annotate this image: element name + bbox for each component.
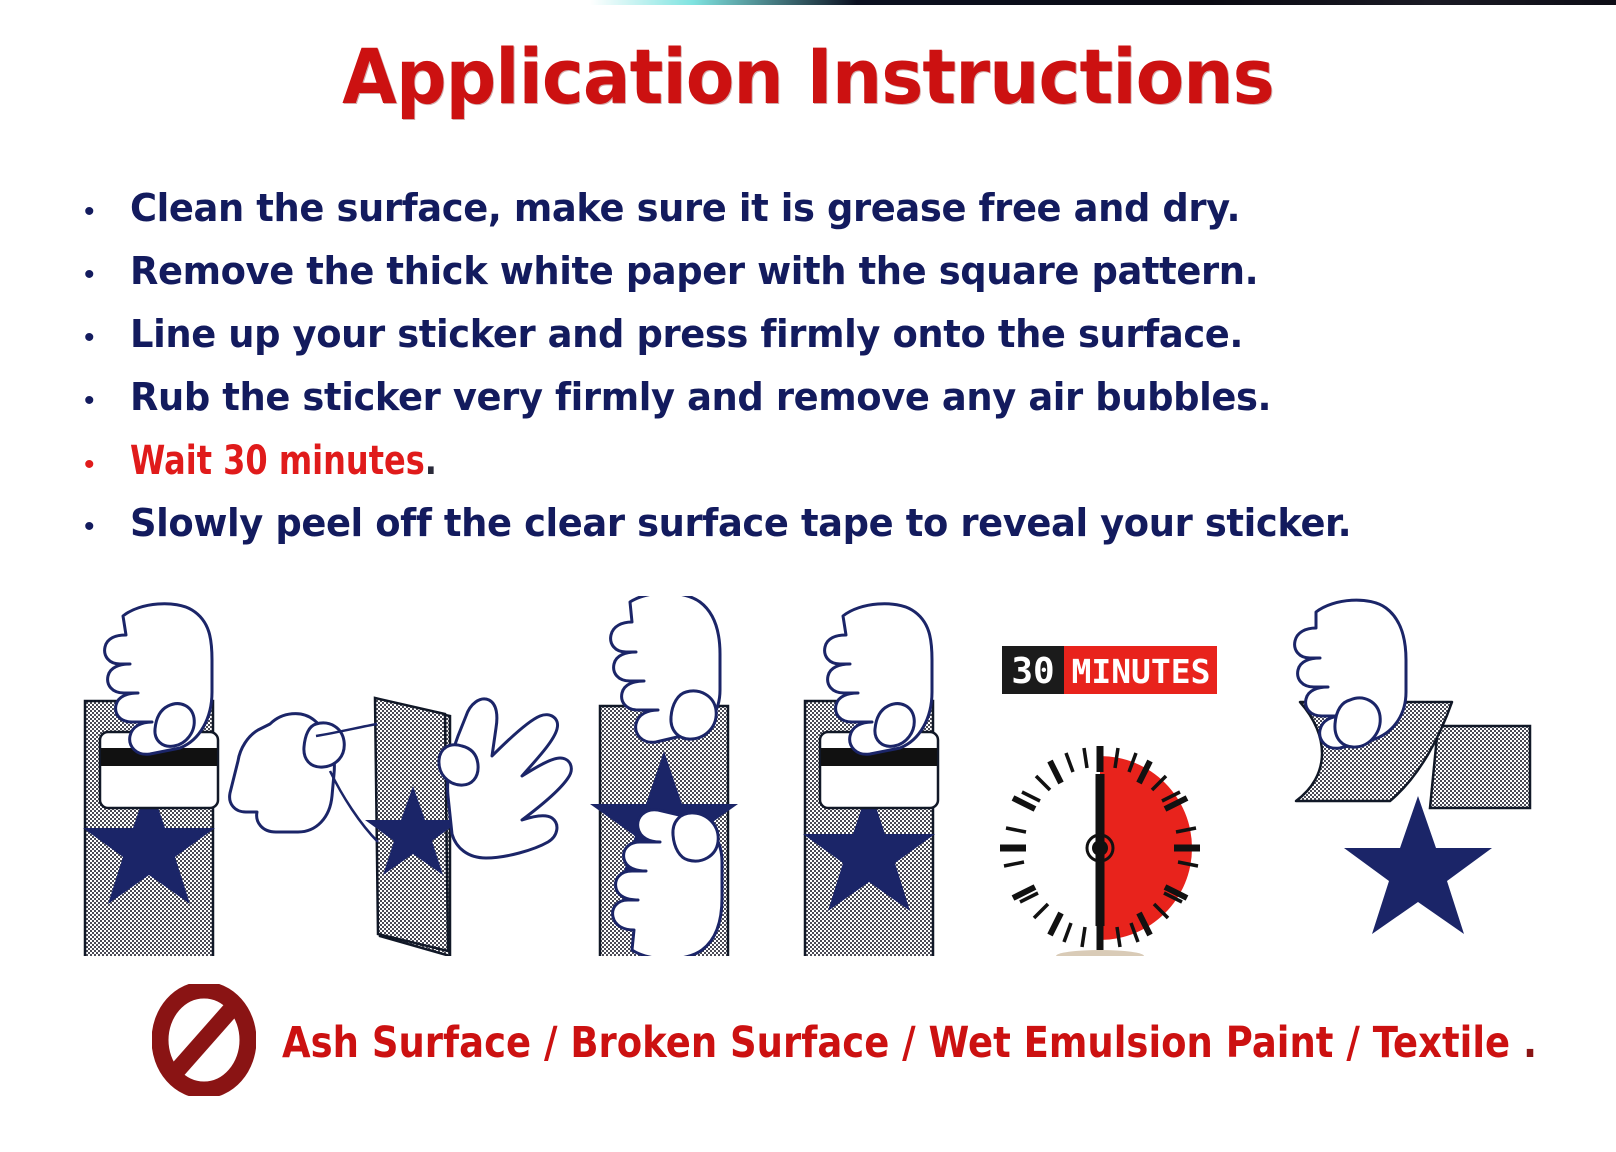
bullet-dot-icon: • bbox=[72, 323, 130, 353]
bullet-dot-icon: • bbox=[72, 450, 130, 480]
scan-edge-artifact bbox=[590, 0, 1616, 5]
step-peel-backing-paper bbox=[230, 698, 572, 956]
list-item-label: Rub the sticker very firmly and remove a… bbox=[130, 375, 1271, 419]
timer-base-shadow bbox=[1056, 950, 1144, 956]
wait-text-period: . bbox=[425, 438, 437, 484]
step-peel-transfer-tape bbox=[1295, 600, 1530, 934]
bullet-dot-icon: • bbox=[72, 386, 130, 416]
bullet-dot-icon: • bbox=[72, 512, 130, 542]
warning-text-main: Ash Surface / Broken Surface / Wet Emuls… bbox=[282, 1018, 1510, 1068]
list-item-label-wait: Wait 30 minutes. bbox=[130, 438, 437, 484]
list-item: • Rub the sticker very firmly and remove… bbox=[72, 375, 1552, 438]
list-item: • Slowly peel off the clear surface tape… bbox=[72, 501, 1552, 564]
steps-svg: 30 MINUTES bbox=[0, 596, 1616, 956]
step-illustrations: 30 MINUTES bbox=[0, 596, 1616, 956]
list-item-label: Remove the thick white paper with the sq… bbox=[130, 249, 1258, 293]
instruction-sheet: Application Instructions • Clean the sur… bbox=[0, 0, 1616, 1152]
step-squeegee-backing bbox=[83, 604, 218, 956]
step-rub-firmly bbox=[803, 604, 938, 956]
list-item: • Line up your sticker and press firmly … bbox=[72, 312, 1552, 375]
list-item: • Remove the thick white paper with the … bbox=[72, 249, 1552, 312]
instruction-list: • Clean the surface, make sure it is gre… bbox=[72, 186, 1552, 564]
page-title: Application Instructions bbox=[57, 32, 1560, 121]
warning-text-period: . bbox=[1510, 1018, 1537, 1068]
list-item-wait: • Wait 30 minutes. bbox=[72, 438, 1552, 501]
step-wait-timer: 30 MINUTES bbox=[1000, 646, 1217, 956]
list-item: • Clean the surface, make sure it is gre… bbox=[72, 186, 1552, 249]
no-entry-icon bbox=[152, 984, 256, 1101]
bullet-dot-icon: • bbox=[72, 260, 130, 290]
list-item-label: Clean the surface, make sure it is greas… bbox=[130, 186, 1240, 230]
star-graphic bbox=[1344, 796, 1492, 934]
step-press-onto-surface bbox=[590, 596, 738, 956]
warning-row: Ash Surface / Broken Surface / Wet Emuls… bbox=[152, 984, 1616, 1101]
list-item-label: Slowly peel off the clear surface tape t… bbox=[130, 501, 1351, 545]
wait-text: Wait 30 minutes bbox=[130, 438, 425, 484]
timer-minutes-value: 30 bbox=[1011, 651, 1054, 692]
timer-minutes-label: MINUTES bbox=[1071, 652, 1210, 691]
bullet-dot-icon: • bbox=[72, 197, 130, 227]
warning-text: Ash Surface / Broken Surface / Wet Emuls… bbox=[282, 1018, 1537, 1068]
list-item-label: Line up your sticker and press firmly on… bbox=[130, 312, 1243, 356]
